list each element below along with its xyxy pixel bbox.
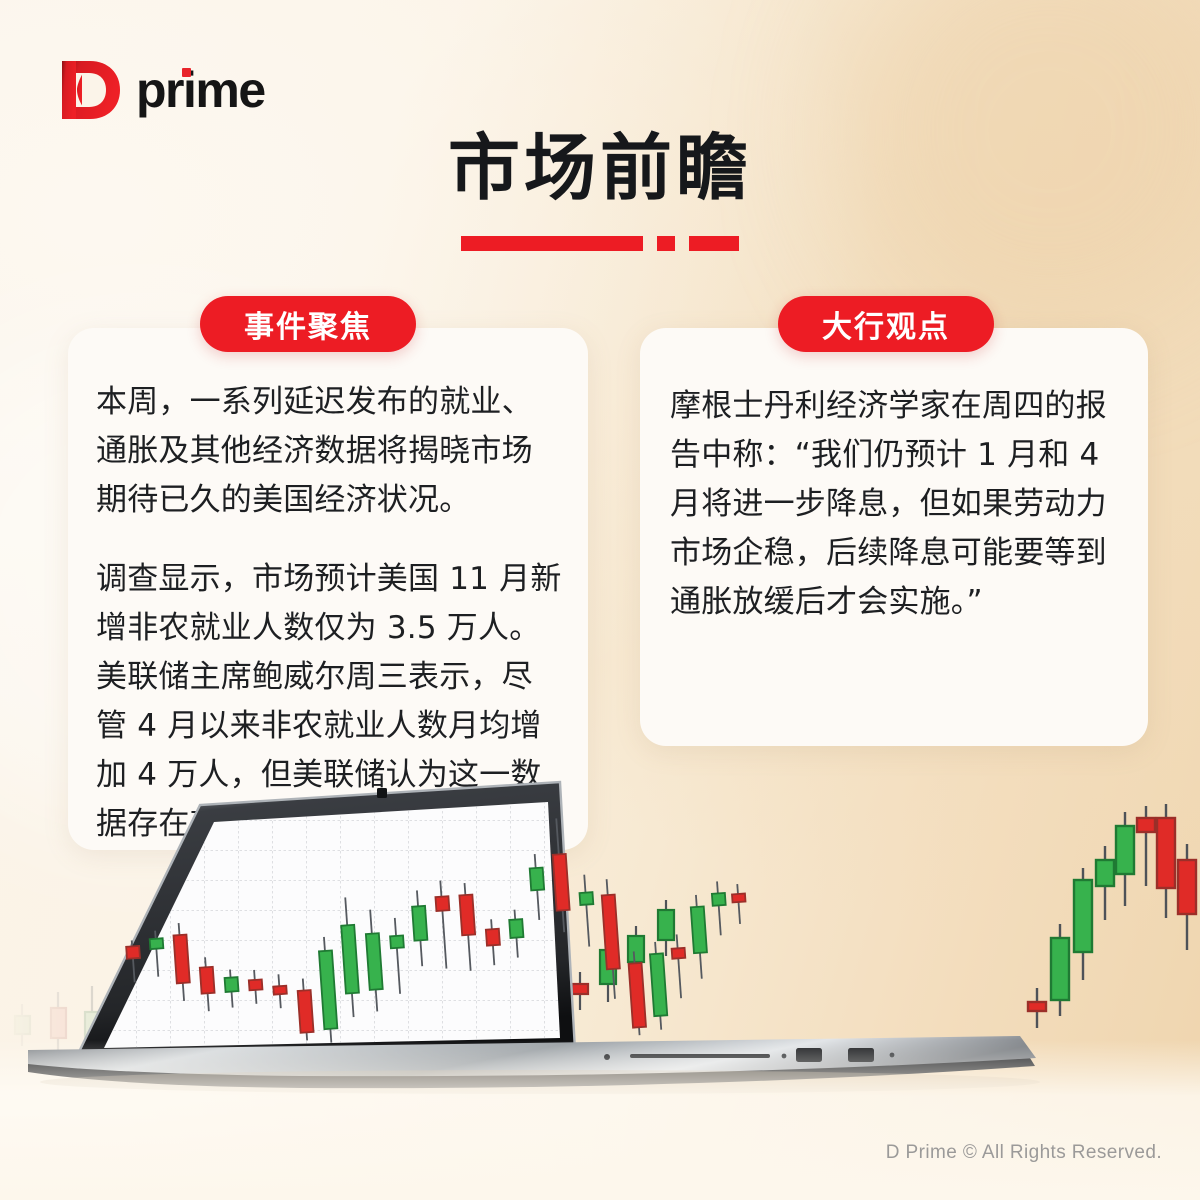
card-bank-view-paragraph-1: 摩根士丹利经济学家在周四的报告中称：“我们仍预计 1 月和 4 月将进一步降息，… — [670, 382, 1122, 627]
poster-canvas: prime 市场前瞻 本周，一系列延迟发布的就业、通胀及其他经济数据将揭晓市场期… — [0, 0, 1200, 1200]
brand-wordmark: prime — [136, 65, 265, 115]
badge-event-focus: 事件聚焦 — [200, 296, 416, 352]
underline-segment-long — [461, 236, 643, 251]
card-bank-view-body: 摩根士丹利经济学家在周四的报告中称：“我们仍预计 1 月和 4 月将进一步降息，… — [640, 328, 1148, 627]
title-block: 市场前瞻 — [0, 132, 1200, 251]
card-event-focus: 本周，一系列延迟发布的就业、通胀及其他经济数据将揭晓市场期待已久的美国经济状况。… — [68, 328, 588, 850]
badge-bank-view: 大行观点 — [778, 296, 994, 352]
brand-dot-icon — [182, 68, 191, 77]
card-event-focus-paragraph-2: 调查显示，市场预计美国 11 月新增非农就业人数仅为 3.5 万人。美联储主席鲍… — [96, 555, 562, 849]
bottom-sheen — [0, 1040, 1200, 1200]
brand-logo: prime — [56, 58, 265, 122]
card-event-focus-paragraph-1: 本周，一系列延迟发布的就业、通胀及其他经济数据将揭晓市场期待已久的美国经济状况。 — [96, 378, 562, 525]
background-candles-left — [15, 970, 304, 1066]
d-monogram-icon — [56, 59, 122, 121]
title-underline — [0, 236, 1200, 251]
background-candles-right — [1028, 804, 1196, 1028]
background-candles-mid — [322, 900, 674, 1068]
brand-wordmark-text: prime — [136, 62, 265, 118]
card-bank-view: 摩根士丹利经济学家在周四的报告中称：“我们仍预计 1 月和 4 月将进一步降息，… — [640, 328, 1148, 746]
underline-segment-short — [689, 236, 739, 251]
card-event-focus-body: 本周，一系列延迟发布的就业、通胀及其他经济数据将揭晓市场期待已久的美国经济状况。… — [68, 328, 588, 849]
page-title: 市场前瞻 — [0, 132, 1200, 204]
underline-segment-dot — [657, 236, 675, 251]
footer-copyright: D Prime © All Rights Reserved. — [886, 1142, 1162, 1164]
